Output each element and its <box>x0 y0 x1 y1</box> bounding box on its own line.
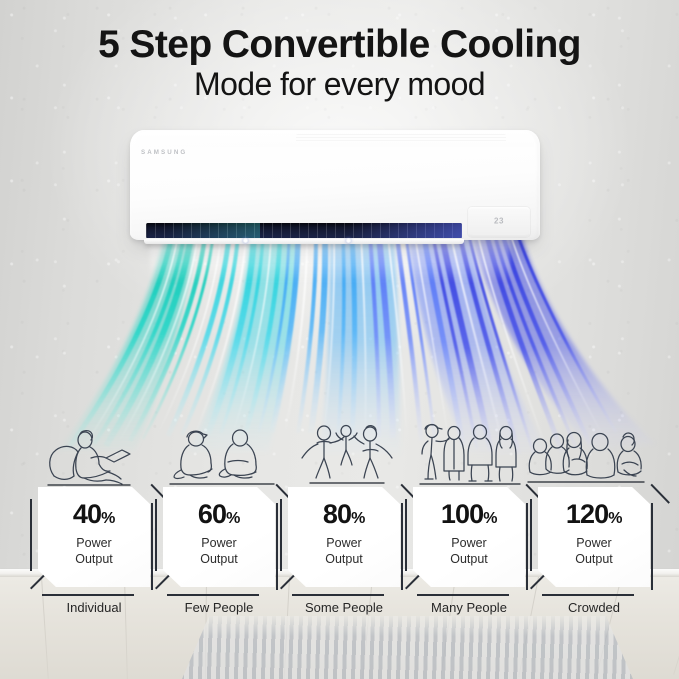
mode-label-row: Individual Few People Some People Many P… <box>0 600 679 624</box>
card-subtitle-line-2: Output <box>75 552 113 566</box>
card-edge-left <box>280 499 282 571</box>
percent-symbol: % <box>226 510 240 527</box>
air-conditioner-icon: SAMSUNG 23 <box>130 130 540 240</box>
vent-glow-left <box>165 223 260 238</box>
power-output-card[interactable]: 40% Power Output <box>38 487 150 587</box>
two-people-sitting-icon <box>168 426 276 486</box>
card-subtitle: Power Output <box>163 536 275 567</box>
card-edge-left <box>155 499 157 571</box>
group-of-four-standing-icon <box>416 421 524 486</box>
card-edge-bevel-top-right <box>651 484 670 504</box>
card-subtitle-line-1: Power <box>451 536 486 550</box>
percent-symbol: % <box>101 510 115 527</box>
floor-seam <box>124 577 128 679</box>
vent-blade-pivot <box>243 238 248 243</box>
card-edge-bottom <box>542 594 634 596</box>
card-percent-value: 80 <box>323 499 351 529</box>
card-percent: 40% <box>38 501 150 528</box>
card-edge-bottom <box>292 594 384 596</box>
card-subtitle-line-1: Power <box>576 536 611 550</box>
card-percent: 100% <box>413 501 525 528</box>
page-title: 5 Step Convertible Cooling Mode for ever… <box>0 24 679 103</box>
power-output-card[interactable]: 80% Power Output <box>288 487 400 587</box>
card-subtitle-line-1: Power <box>326 536 361 550</box>
mode-label: Few People <box>154 600 284 615</box>
card-edge-bottom <box>417 594 509 596</box>
card-percent-value: 60 <box>198 499 226 529</box>
floor-seam <box>41 577 49 679</box>
temperature-display-icon: 23 <box>468 207 530 237</box>
card-edge-left <box>530 499 532 571</box>
rug-shadow-overlay <box>182 616 633 679</box>
percent-symbol: % <box>483 510 497 527</box>
card-edge-right <box>526 503 528 590</box>
card-percent-value: 100 <box>441 499 483 529</box>
card-subtitle-line-1: Power <box>76 536 111 550</box>
vent-blade-pivot <box>346 238 351 243</box>
card-subtitle-line-1: Power <box>201 536 236 550</box>
card-percent-value: 120 <box>566 499 608 529</box>
mode-label: Individual <box>29 600 159 615</box>
temperature-display-value: 23 <box>494 217 504 226</box>
card-subtitle-line-2: Output <box>450 552 488 566</box>
card-edge-bottom <box>167 594 259 596</box>
headline-line-2: Mode for every mood <box>0 67 679 103</box>
mode-label: Many People <box>404 600 534 615</box>
card-edge-right <box>276 503 278 590</box>
card-edge-right <box>151 503 153 590</box>
mode-label: Some People <box>279 600 409 615</box>
card-subtitle: Power Output <box>538 536 650 567</box>
power-output-card-row: 40% Power Output 60% Power Output <box>0 487 679 587</box>
air-conditioner-top-grille <box>296 134 506 143</box>
card-edge-left <box>30 499 32 571</box>
card-percent: 60% <box>163 501 275 528</box>
card-percent: 120% <box>538 501 650 528</box>
card-edge-right <box>401 503 403 590</box>
card-subtitle: Power Output <box>288 536 400 567</box>
air-vent-blade <box>144 239 464 244</box>
person-with-laptop-icon <box>44 428 148 486</box>
card-subtitle-line-2: Output <box>325 552 363 566</box>
percent-symbol: % <box>608 510 622 527</box>
card-percent-value: 40 <box>73 499 101 529</box>
promo-scene: 5 Step Convertible Cooling Mode for ever… <box>0 0 679 679</box>
card-edge-bottom <box>42 594 134 596</box>
power-output-card[interactable]: 120% Power Output <box>538 487 650 587</box>
power-output-card[interactable]: 100% Power Output <box>413 487 525 587</box>
card-percent: 80% <box>288 501 400 528</box>
card-subtitle: Power Output <box>413 536 525 567</box>
vent-glow-right <box>348 223 462 238</box>
samsung-brand-logo: SAMSUNG <box>141 149 187 156</box>
card-subtitle-line-2: Output <box>200 552 238 566</box>
floor-seam <box>674 577 679 675</box>
power-output-card[interactable]: 60% Power Output <box>163 487 275 587</box>
card-subtitle-line-2: Output <box>575 552 613 566</box>
air-vent-icon <box>146 223 462 238</box>
card-edge-right <box>651 503 653 590</box>
card-edge-left <box>405 499 407 571</box>
card-subtitle: Power Output <box>38 536 150 567</box>
headline-line-1: 5 Step Convertible Cooling <box>0 24 679 66</box>
family-of-three-icon <box>296 422 396 486</box>
crowd-sitting-icon <box>524 426 650 488</box>
mode-label: Crowded <box>529 600 659 615</box>
percent-symbol: % <box>351 510 365 527</box>
